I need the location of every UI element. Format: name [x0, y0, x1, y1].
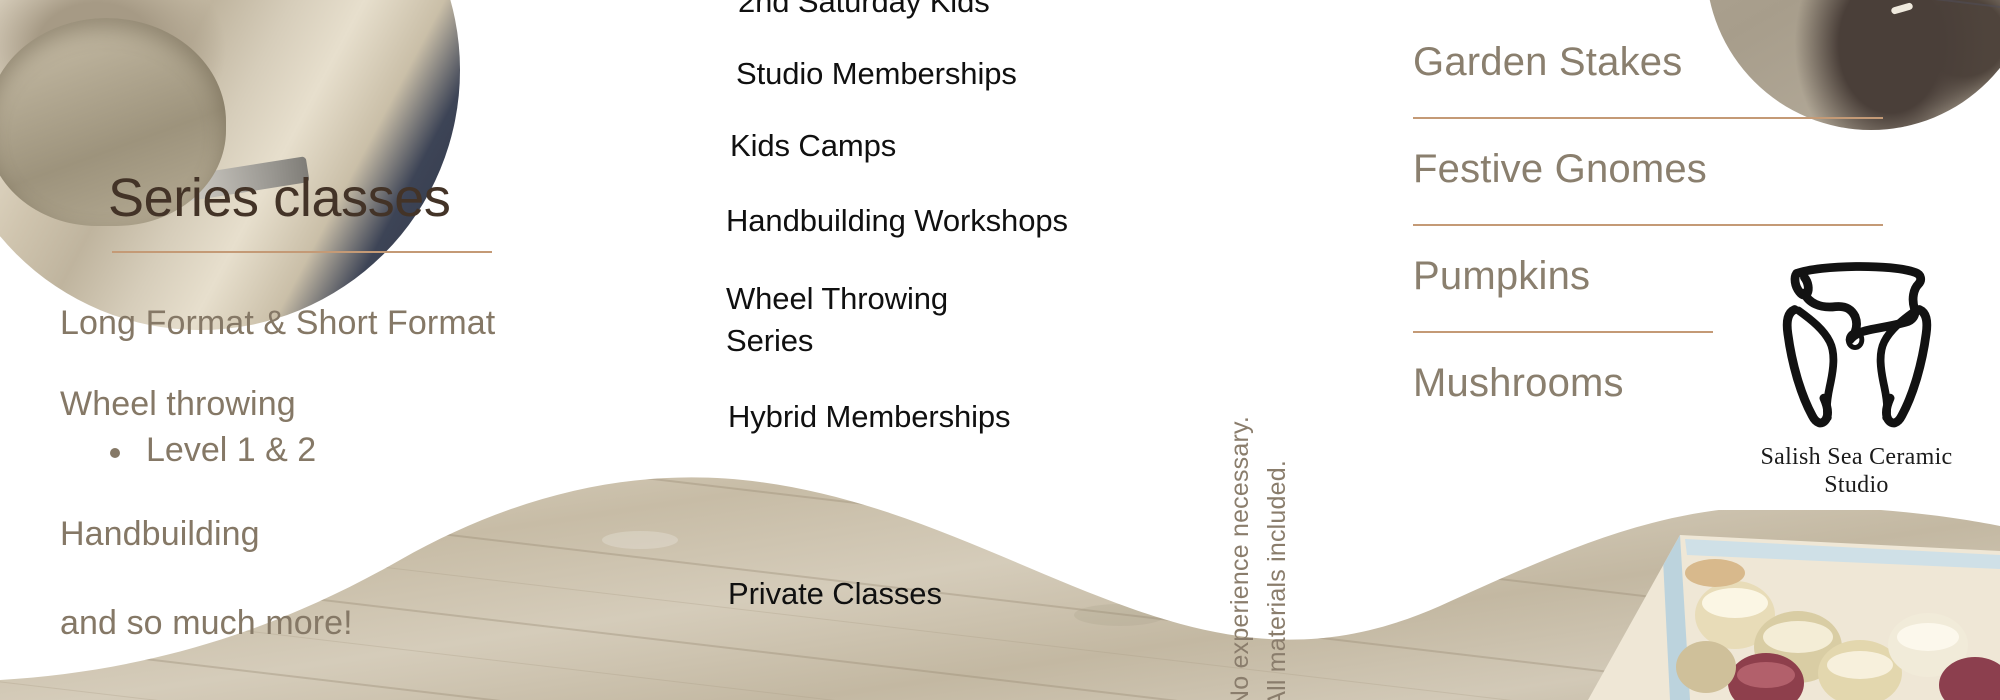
series-wheel-throwing-line: Wheel throwing	[60, 386, 682, 423]
series-and-more-line: and so much more!	[60, 605, 682, 642]
series-handbuilding-line: Handbuilding	[60, 516, 682, 553]
list-item: Handbuilding Workshops	[726, 205, 1260, 237]
list-item: Private Classes	[728, 578, 942, 610]
divider-rule	[1413, 117, 1883, 119]
series-classes-title: Series classes	[42, 170, 682, 227]
ceramic-vessel-logo-icon	[1768, 256, 1946, 441]
product-row: Festive Gnomes	[1413, 147, 1893, 191]
studio-logo-card: Salish Sea Ceramic Studio	[1713, 248, 2000, 510]
series-format-line: Long Format & Short Format	[60, 305, 682, 342]
list-item: Wheel Throwing	[726, 283, 1260, 315]
list-item: Series	[726, 325, 1260, 357]
series-bullet-list: Level 1 & 2	[102, 429, 682, 472]
offerings-list: 2nd Saturday Kids Studio Memberships Kid…	[700, 0, 1260, 434]
product-label: Festive Gnomes	[1413, 147, 1893, 191]
vertical-notes-group: No experience necessary. All materials i…	[1226, 278, 1292, 700]
product-row: Garden Stakes	[1413, 40, 1893, 84]
list-item: Studio Memberships	[736, 58, 1260, 90]
product-label: Garden Stakes	[1413, 40, 1893, 84]
brand-name-line-2: Studio	[1760, 471, 1952, 499]
note-materials-included: All materials included.	[1263, 460, 1292, 700]
list-item: Level 1 & 2	[102, 429, 682, 472]
note-no-experience: No experience necessary.	[1226, 416, 1255, 700]
divider-rule	[1413, 224, 1883, 226]
divider-rule	[1413, 331, 1713, 333]
brand-name-line-1: Salish Sea Ceramic	[1760, 443, 1952, 471]
poster-canvas: Series classes Long Format & Short Forma…	[0, 0, 2000, 700]
list-item: Kids Camps	[730, 130, 1260, 162]
title-underline-rule	[112, 251, 492, 253]
list-item: 2nd Saturday Kids	[738, 0, 1260, 18]
series-classes-section: Series classes Long Format & Short Forma…	[42, 170, 682, 643]
tray-of-mugs-photo	[1530, 495, 2000, 700]
list-item: Hybrid Memberships	[728, 401, 1260, 433]
studio-logo-text: Salish Sea Ceramic Studio	[1760, 443, 1952, 500]
